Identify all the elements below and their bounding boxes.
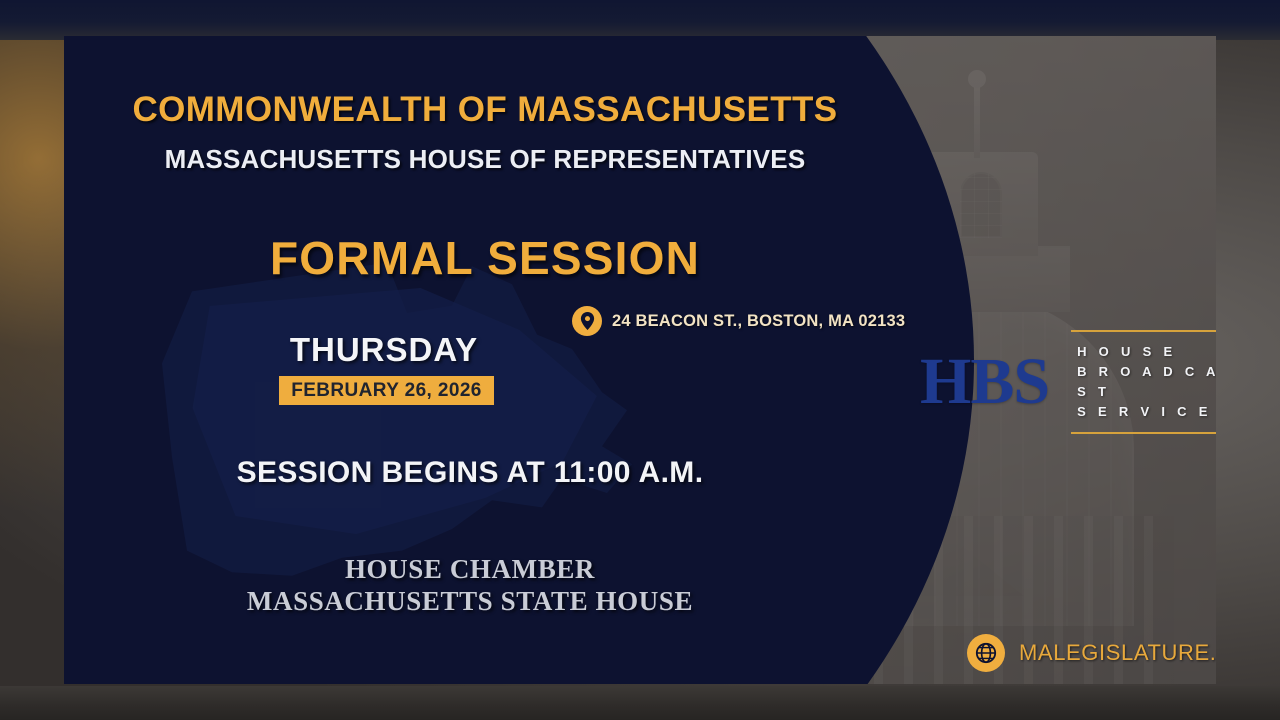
address-block: 24 BEACON ST., BOSTON, MA 02133 bbox=[572, 306, 905, 336]
address-text: 24 BEACON ST., BOSTON, MA 02133 bbox=[612, 312, 905, 331]
backdrop-bottom-band bbox=[0, 686, 1280, 720]
venue-line-1: HOUSE CHAMBER bbox=[90, 553, 850, 585]
venue-line-2: MASSACHUSETTS STATE HOUSE bbox=[90, 585, 850, 617]
session-slate-card: COMMONWEALTH OF MASSACHUSETTS MASSACHUSE… bbox=[64, 36, 1216, 684]
hbs-monogram: HBS bbox=[920, 349, 1049, 415]
session-start-time: SESSION BEGINS AT 11:00 A.M. bbox=[90, 456, 850, 490]
hbs-rule-top bbox=[1071, 330, 1216, 332]
hbs-rule-bottom bbox=[1071, 432, 1216, 434]
hbs-line-services: S E R V I C E S bbox=[1077, 402, 1216, 422]
chamber-subtitle: MASSACHUSETTS HOUSE OF REPRESENTATIVES bbox=[90, 144, 880, 175]
hbs-wordmark: H O U S E B R O A D C A S T S E R V I C … bbox=[1071, 324, 1216, 440]
day-of-week: THURSDAY bbox=[214, 331, 554, 369]
hbs-line-broadcast: B R O A D C A S T bbox=[1077, 362, 1216, 402]
map-pin-icon bbox=[572, 306, 602, 336]
website-url: MALEGISLATURE.GOV bbox=[1019, 640, 1216, 666]
slate-content: COMMONWEALTH OF MASSACHUSETTS MASSACHUSE… bbox=[64, 36, 1216, 684]
screen: COMMONWEALTH OF MASSACHUSETTS MASSACHUSE… bbox=[0, 0, 1280, 720]
hbs-lines: H O U S E B R O A D C A S T S E R V I C … bbox=[1071, 336, 1216, 428]
venue-block: HOUSE CHAMBER MASSACHUSETTS STATE HOUSE bbox=[90, 553, 850, 617]
session-date-badge: FEBRUARY 26, 2026 bbox=[279, 376, 494, 405]
hbs-line-house: H O U S E bbox=[1077, 342, 1216, 362]
website-block[interactable]: MALEGISLATURE.GOV bbox=[967, 634, 1216, 672]
hbs-logo: HBS H O U S E B R O A D C A S T S E R V … bbox=[920, 324, 1216, 440]
backdrop-top-band bbox=[0, 0, 1280, 40]
commonwealth-title: COMMONWEALTH OF MASSACHUSETTS bbox=[90, 90, 880, 130]
globe-icon bbox=[967, 634, 1005, 672]
session-type-heading: FORMAL SESSION bbox=[90, 231, 880, 285]
